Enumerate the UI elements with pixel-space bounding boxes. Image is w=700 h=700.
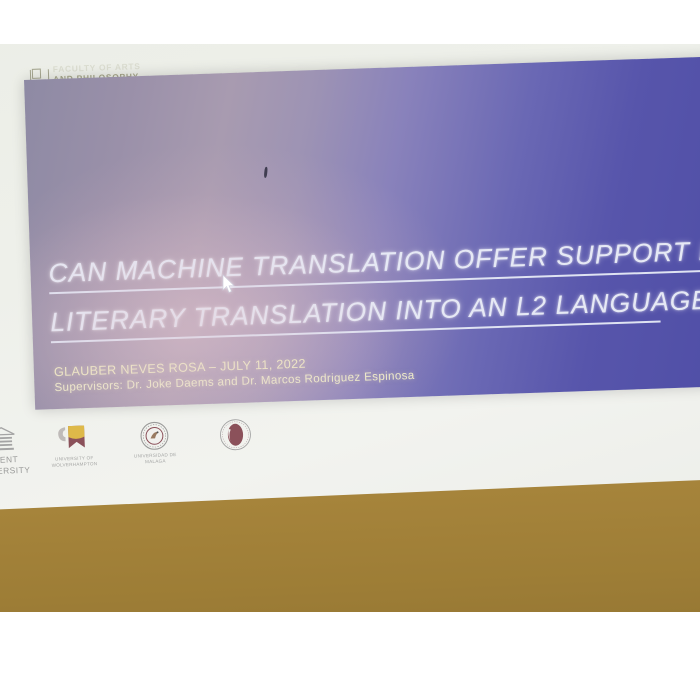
partner-seal-icon [218, 417, 253, 452]
letterbox-bottom [0, 612, 700, 700]
slide-title-line-2: LITERARY TRANSLATION INTO AN L2 LANGUAGE… [50, 288, 661, 342]
universidad-de-malaga-logo: UNIVERSIDAD DE MALAGA [122, 420, 188, 466]
presentation-slide: CAN MACHINE TRANSLATION OFFER SUPPORT FO… [24, 56, 700, 410]
letterbox-top [0, 0, 700, 44]
screen-speck-artifact [264, 167, 268, 178]
slide-title-line-1: CAN MACHINE TRANSLATION OFFER SUPPORT FO… [48, 234, 700, 293]
malaga-caption: UNIVERSIDAD DE MALAGA [123, 452, 187, 466]
ghent-university-caption: GHENT UNIVERSITY [0, 454, 30, 477]
ghent-building-icon [0, 426, 17, 453]
projection-screen: CAN MACHINE TRANSLATION OFFER SUPPORT FO… [24, 56, 700, 410]
university-of-wolverhampton-logo: UNIVERSITY OF WOLVERHAMPTON [41, 423, 107, 469]
wolverhampton-caption: UNIVERSITY OF WOLVERHAMPTON [42, 455, 106, 469]
malaga-seal-icon [139, 420, 170, 451]
screenshot-frame: FACULTY OF ARTS AND PHILOSOPHY CAN MACHI… [0, 0, 700, 700]
mouse-pointer-icon[interactable] [222, 274, 236, 294]
lecture-room-photo: FACULTY OF ARTS AND PHILOSOPHY CAN MACHI… [0, 44, 700, 614]
ghent-university-logo: GHENT UNIVERSITY [0, 426, 26, 477]
wolverhampton-crest-icon [54, 423, 93, 454]
fourth-partner-logo [203, 417, 268, 455]
